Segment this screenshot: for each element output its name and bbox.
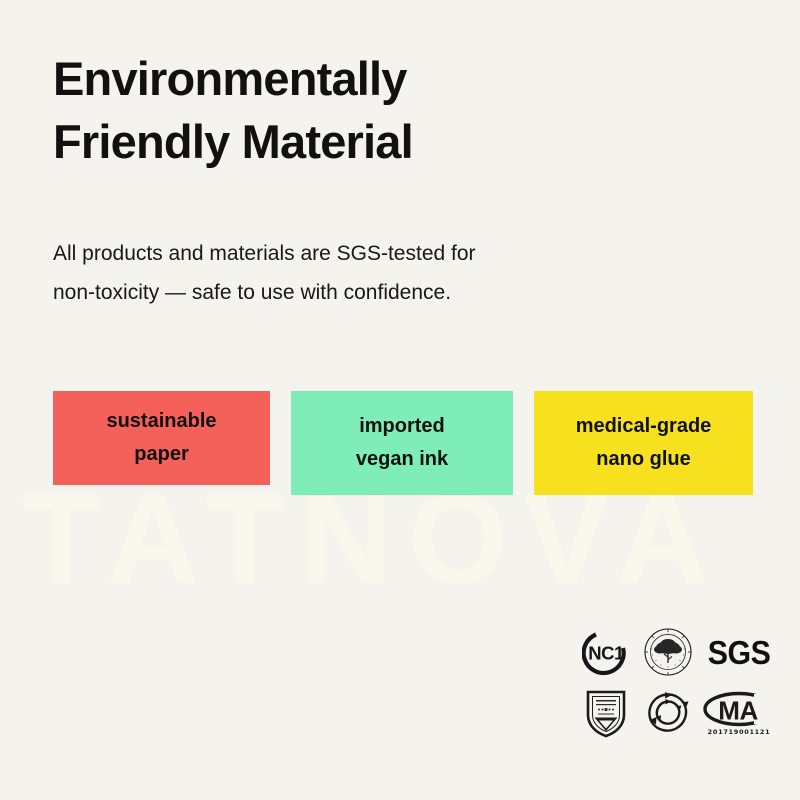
material-tag-label-line-2: nano glue [596,443,690,476]
forest-tree-seal-icon [643,627,693,677]
material-tag-label-line-2: vegan ink [356,443,448,476]
sgs-logo-icon: SGS [708,636,771,669]
recycling-arrows-icon [644,689,692,737]
page-subtitle-line-1: All products and materials are SGS-teste… [53,235,673,274]
material-tag-label-line-1: imported [359,410,445,443]
shield-chevron-icon [583,688,629,738]
certification-badge-shield [583,688,629,738]
page-subtitle-line-2: non-toxicity — safe to use with confiden… [53,274,673,313]
certification-badge-forest-seal [643,627,693,677]
certification-badge-cma: MA 201719001121 [702,691,776,736]
page-title-line-2: Friendly Material [53,111,713,174]
certification-badge-sgs: SGS [705,636,773,669]
page-subtitle: All products and materials are SGS-teste… [53,235,673,313]
cma-certificate-number: 201719001121 [708,728,771,736]
material-tag-medical-grade-nano-glue: medical-grade nano glue [534,391,753,495]
cma-logo-icon: MA [702,691,776,727]
svg-text:NC1: NC1 [588,643,624,664]
svg-text:MA: MA [718,695,758,725]
material-tag-imported-vegan-ink: imported vegan ink [291,391,513,495]
certification-badge-recycle [644,689,692,737]
certification-badge-nc1: NC1 [582,628,630,676]
nc1-circle-icon: NC1 [582,628,630,676]
material-tag-sustainable-paper: sustainable paper [53,391,270,485]
poster-canvas: TATNOVA Environmentally Friendly Materia… [0,0,800,800]
certification-badge-grid: NC1 [575,622,785,748]
material-tag-row: sustainable paper imported vegan ink med… [53,391,753,495]
page-title: Environmentally Friendly Material [53,48,713,173]
page-title-line-1: Environmentally [53,48,713,111]
material-tag-label-line-1: sustainable [106,405,216,438]
material-tag-label-line-1: medical-grade [576,410,712,443]
material-tag-label-line-2: paper [134,438,188,471]
